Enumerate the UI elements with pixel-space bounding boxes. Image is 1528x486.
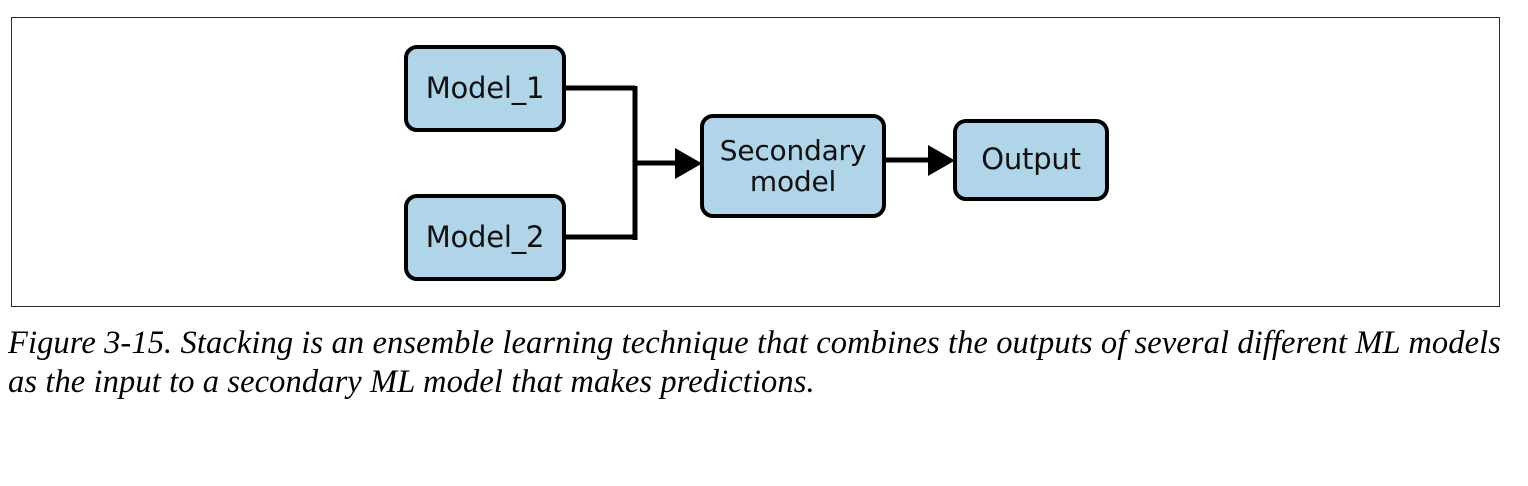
figure-caption: Figure 3-15. Stacking is an ensemble lea…	[8, 324, 1508, 402]
node-secondary-model-label: Secondary model	[720, 135, 867, 198]
figure-frame: Model_1 Model_2 Secondary model Output	[11, 17, 1500, 307]
node-output: Output	[953, 119, 1109, 201]
node-model-2-label: Model_2	[426, 222, 545, 253]
arrowhead-into-output	[928, 145, 955, 176]
node-output-label: Output	[981, 144, 1081, 175]
figure-page: Model_1 Model_2 Secondary model Output F…	[0, 0, 1528, 486]
node-model-1-label: Model_1	[426, 73, 545, 104]
arrowhead-into-secondary	[675, 148, 702, 179]
node-model-2: Model_2	[404, 194, 566, 281]
diagram-canvas: Model_1 Model_2 Secondary model Output	[12, 18, 1501, 308]
node-secondary-model: Secondary model	[700, 114, 886, 218]
node-model-1: Model_1	[404, 45, 566, 132]
